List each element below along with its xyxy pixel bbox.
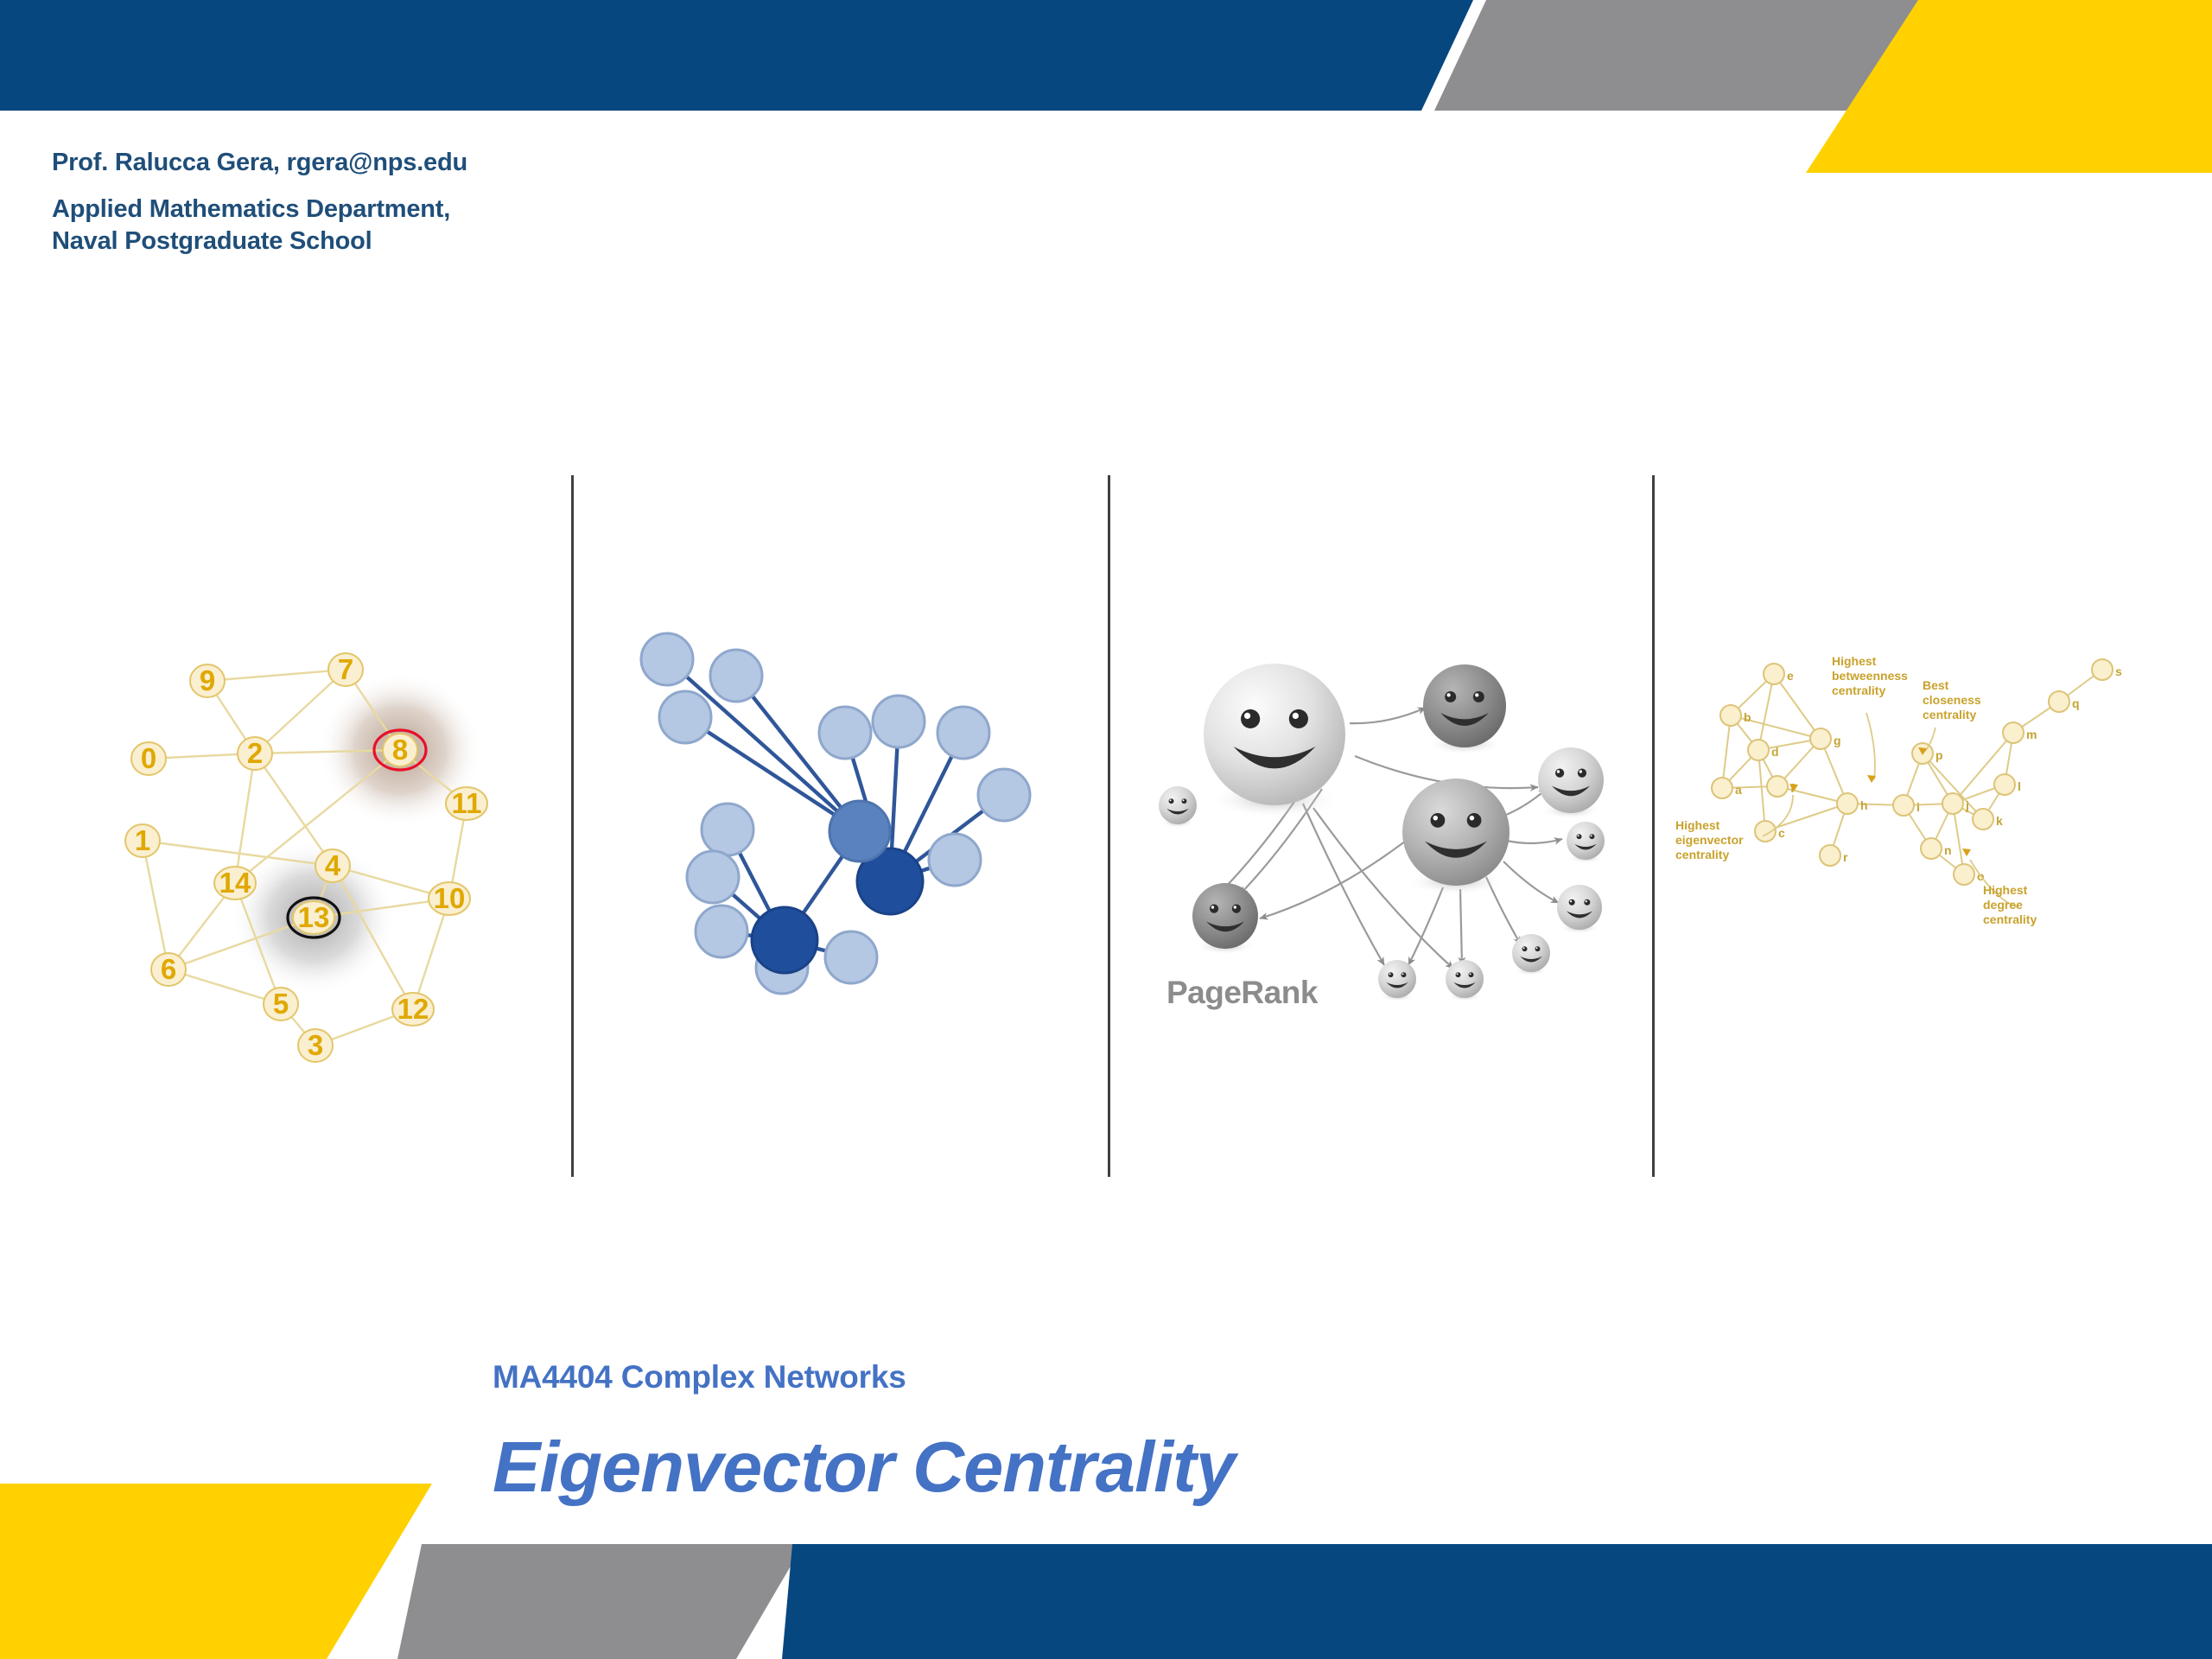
leaf-node[interactable] (659, 691, 711, 743)
leaf-node[interactable] (929, 834, 981, 886)
eye-icon (1241, 709, 1260, 728)
graph-node[interactable]: 1 (125, 824, 160, 857)
node-circle (1837, 793, 1858, 814)
graph-node[interactable]: r (1820, 845, 1848, 866)
panel-divider-2 (1108, 475, 1110, 1177)
leaf-node[interactable] (873, 696, 925, 747)
annotation-label-line: Best (1923, 678, 1949, 692)
annotation-label-line: centrality (1983, 912, 2037, 926)
eye-icon (1555, 769, 1564, 778)
node-ball (1204, 664, 1345, 805)
eye-glint (1457, 973, 1459, 975)
smiley-node[interactable] (1557, 885, 1602, 934)
eye-glint (1470, 816, 1475, 821)
graph-node[interactable]: f (1767, 776, 1795, 797)
node-circle (1921, 838, 1942, 859)
graph-node[interactable]: i (1893, 795, 1920, 816)
graph-node[interactable]: 6 (151, 953, 186, 986)
pagerank-caption: PageRank (1166, 975, 1319, 1010)
author-institution: Naval Postgraduate School (52, 226, 829, 257)
node-circle (2049, 691, 2069, 712)
annotation-label-line: eigenvector (1675, 833, 1744, 847)
graph-edge (235, 753, 255, 883)
node-label: 11 (452, 787, 482, 819)
eye-glint (1234, 906, 1236, 908)
node-circle (1942, 793, 1963, 814)
graph-node[interactable]: m (2003, 722, 2037, 743)
node-ball (1567, 822, 1605, 860)
eye-icon (1590, 834, 1595, 839)
smiley-node[interactable] (1512, 934, 1550, 976)
eye-glint (1446, 693, 1450, 696)
node-label: l (2018, 779, 2021, 793)
centrality-graph-svg: abcdefghijklmnopqrs Highestbetweennessce… (1672, 648, 2190, 994)
graph-node[interactable]: k (1973, 809, 2003, 829)
node-label: h (1860, 798, 1868, 812)
node-label: 5 (273, 988, 289, 1020)
eye-glint (1523, 947, 1525, 949)
eye-icon (1182, 798, 1187, 804)
node-label: p (1935, 748, 1943, 762)
graph-node[interactable]: j (1942, 793, 1969, 814)
graph-node[interactable]: s (2092, 659, 2122, 680)
smiley-node[interactable] (1192, 883, 1258, 955)
eye-glint (1433, 816, 1438, 821)
node-label: 9 (200, 664, 215, 696)
node-circle (1954, 864, 1974, 885)
node-label: g (1834, 734, 1841, 747)
eye-icon (1569, 899, 1575, 906)
link-arrow (1260, 832, 1417, 918)
graph-node[interactable]: 14 (214, 867, 256, 899)
annotation-label-line: centrality (1675, 848, 1729, 861)
annotation-label-line: betweenness (1832, 669, 1908, 683)
pagerank-smiley-nodes (1159, 664, 1605, 1001)
secondary-hub-node[interactable] (829, 801, 890, 861)
annotation-label-line: Highest (1983, 883, 2028, 897)
node-highlight-glows (232, 672, 482, 995)
annotation-pointer (1866, 713, 1875, 779)
leaf-node[interactable] (819, 707, 871, 759)
node-ball (1192, 883, 1258, 949)
annotation-label-line: degree (1983, 898, 2023, 912)
graph-node[interactable]: q (2049, 691, 2080, 712)
eye-icon (1232, 905, 1241, 913)
eye-glint (1578, 835, 1580, 836)
eye-icon (1169, 798, 1174, 804)
panel-blue-hub-network-graph (631, 631, 1063, 1020)
leaf-node[interactable] (696, 906, 747, 957)
graph-node[interactable]: 13 (293, 901, 334, 934)
eye-glint (1244, 713, 1250, 719)
eye-icon (1431, 813, 1446, 828)
eye-glint (1183, 799, 1185, 801)
eye-icon (1469, 972, 1474, 977)
node-label: 10 (434, 882, 466, 914)
graph-node[interactable]: d (1748, 740, 1779, 760)
leaf-node[interactable] (702, 804, 753, 855)
node-circle (1720, 705, 1741, 726)
node-ball (1423, 664, 1506, 747)
annotation-label-line: centrality (1923, 708, 1976, 721)
annotation-label-line: Highest (1832, 654, 1877, 668)
pagerank-smiley-svg: PageRank (1158, 644, 1624, 1024)
eye-glint (1580, 770, 1582, 772)
course-subtitle: MA4404 Complex Networks (493, 1359, 906, 1395)
node-ball (1557, 885, 1602, 930)
link-arrow (1503, 861, 1559, 903)
graph-node[interactable]: e (1764, 664, 1794, 684)
blue-hub-network-svg (631, 631, 1063, 1020)
node-label: 6 (161, 953, 176, 985)
eye-icon (1578, 769, 1586, 778)
annotation-label-line: Highest (1675, 818, 1720, 832)
node-circle (2092, 659, 2113, 680)
node-circle (1820, 845, 1840, 866)
decoration-bottom-yellow-shape (0, 1484, 432, 1659)
eye-glint (1402, 973, 1404, 975)
node-label: b (1744, 710, 1751, 724)
eye-icon (1535, 946, 1541, 951)
eye-icon (1473, 691, 1484, 702)
node-ball (1378, 960, 1416, 998)
graph-node[interactable]: 12 (392, 993, 434, 1026)
graph-node[interactable]: 5 (264, 988, 298, 1020)
node-circle (1764, 664, 1784, 684)
link-arrow (1460, 889, 1462, 965)
node-circle (1810, 728, 1831, 749)
node-label: e (1787, 669, 1794, 683)
eye-icon (1402, 972, 1407, 977)
annotation-label-line: closeness (1923, 693, 1981, 707)
node-label: 13 (298, 901, 330, 933)
panel-centrality-annotated-graph: abcdefghijklmnopqrs Highestbetweennessce… (1672, 648, 2190, 994)
node-ball (1159, 786, 1197, 824)
eye-glint (1170, 799, 1172, 801)
node-label: s (2115, 664, 2122, 678)
node-ball (1446, 960, 1484, 998)
node-circle (1973, 809, 1993, 829)
node-label: 4 (325, 849, 341, 881)
eye-glint (1470, 973, 1471, 975)
eye-icon (1445, 691, 1456, 702)
smiley-node[interactable] (1423, 664, 1506, 755)
leaf-node[interactable] (938, 707, 989, 759)
node-label: d (1771, 745, 1779, 759)
link-arrow (1502, 789, 1547, 817)
link-arrow (1350, 708, 1426, 723)
leaf-node[interactable] (641, 633, 693, 685)
author-department: Applied Mathematics Department, (52, 194, 829, 226)
eye-icon (1389, 972, 1394, 977)
graph-node[interactable]: 10 (429, 882, 470, 915)
eye-icon (1289, 709, 1308, 728)
node-circle (1748, 740, 1769, 760)
node-label: c (1778, 826, 1785, 840)
eye-glint (1293, 713, 1299, 719)
eye-glint (1536, 947, 1538, 949)
node-label: r (1843, 850, 1848, 864)
node-ball (1402, 779, 1510, 886)
eye-icon (1522, 946, 1528, 951)
leaf-node[interactable] (687, 851, 739, 903)
graph-node[interactable]: 9 (190, 664, 225, 697)
decoration-top-navy-band (0, 0, 1473, 111)
numbered-network-svg: 01234567891011121314 (104, 639, 518, 1071)
node-label: 0 (141, 742, 156, 774)
graph-node[interactable]: 2 (238, 737, 272, 770)
slide-canvas: Prof. Ralucca Gera, rgera@nps.edu Applie… (0, 0, 2212, 1659)
eye-glint (1570, 900, 1572, 902)
eye-icon (1210, 905, 1218, 913)
leaf-node[interactable] (825, 931, 877, 983)
leaf-node[interactable] (978, 769, 1030, 821)
node-label: 8 (392, 734, 408, 766)
eye-icon (1577, 834, 1582, 839)
panel-divider-3 (1652, 475, 1655, 1177)
graph-node[interactable]: 8 (383, 734, 417, 766)
node-circle (1893, 795, 1914, 816)
graph-node[interactable]: 7 (328, 653, 363, 686)
annotation-label-line: centrality (1832, 683, 1885, 697)
graph-nodes: abcdefghijklmnopqrs (1712, 659, 2122, 885)
node-label: i (1916, 800, 1920, 814)
smiley-node[interactable] (1446, 960, 1484, 1001)
eye-icon (1456, 972, 1461, 977)
decoration-bottom-navy-shape (782, 1544, 2212, 1659)
node-label: q (2072, 696, 2080, 710)
eye-glint (1475, 693, 1478, 696)
graph-node[interactable]: 3 (298, 1029, 333, 1062)
graph-edge (1758, 674, 1774, 750)
graph-node[interactable]: h (1837, 793, 1868, 814)
graph-node[interactable]: b (1720, 705, 1751, 726)
smiley-node[interactable] (1204, 664, 1345, 818)
eye-glint (1389, 973, 1391, 975)
smiley-node[interactable] (1159, 786, 1197, 828)
node-label: 3 (308, 1029, 323, 1061)
link-arrow (1507, 839, 1562, 843)
node-label: 7 (338, 653, 353, 685)
graph-node[interactable]: 0 (131, 742, 166, 775)
eye-glint (1211, 906, 1214, 908)
annotation-arrowhead (1962, 849, 1971, 856)
graph-edge (207, 670, 346, 681)
graph-node[interactable]: 4 (315, 849, 350, 882)
panel-numbered-network-graph: 01234567891011121314 (104, 639, 518, 1071)
node-label: 12 (397, 993, 429, 1025)
node-label: j (1965, 798, 1969, 812)
leaf-node[interactable] (710, 650, 762, 702)
graph-node[interactable]: 11 (446, 787, 487, 820)
panel-divider-1 (571, 475, 574, 1177)
node-label: m (2026, 728, 2037, 741)
node-label: 14 (219, 867, 251, 899)
author-byline: Prof. Ralucca Gera, rgera@nps.edu Applie… (52, 147, 829, 257)
node-circle (1767, 776, 1788, 797)
node-label: a (1735, 783, 1742, 797)
author-name-email: Prof. Ralucca Gera, rgera@nps.edu (52, 147, 829, 179)
graph-node[interactable]: a (1712, 778, 1742, 798)
smiley-node[interactable] (1378, 960, 1416, 1001)
node-ball (1512, 934, 1550, 972)
eye-glint (1586, 900, 1587, 902)
eye-icon (1467, 813, 1482, 828)
graph-node[interactable]: l (1994, 774, 2021, 795)
node-label: n (1944, 843, 1952, 857)
eye-icon (1584, 899, 1590, 906)
smiley-node[interactable] (1538, 747, 1604, 819)
panel-pagerank-diagram: PageRank (1158, 644, 1624, 1024)
node-circle (1712, 778, 1732, 798)
node-ball (1538, 747, 1604, 813)
node-circle (2003, 722, 2024, 743)
slide-title: Eigenvector Centrality (493, 1426, 1235, 1509)
node-label: 2 (247, 737, 263, 769)
decoration-bottom-gray-shape (397, 1544, 804, 1659)
graph-node[interactable]: p (1912, 743, 1943, 764)
graph-edges (1722, 670, 2102, 874)
node-label: k (1996, 814, 2003, 828)
node-label: 1 (135, 824, 150, 856)
node-circle (1994, 774, 2015, 795)
eye-glint (1557, 770, 1560, 772)
eye-glint (1591, 835, 1592, 836)
graph-node[interactable]: n (1921, 838, 1952, 859)
hub-node[interactable] (752, 907, 817, 973)
graph-node[interactable]: g (1810, 728, 1841, 749)
graph-edge (143, 841, 168, 969)
smiley-node[interactable] (1567, 822, 1605, 863)
smiley-node[interactable] (1402, 779, 1510, 895)
